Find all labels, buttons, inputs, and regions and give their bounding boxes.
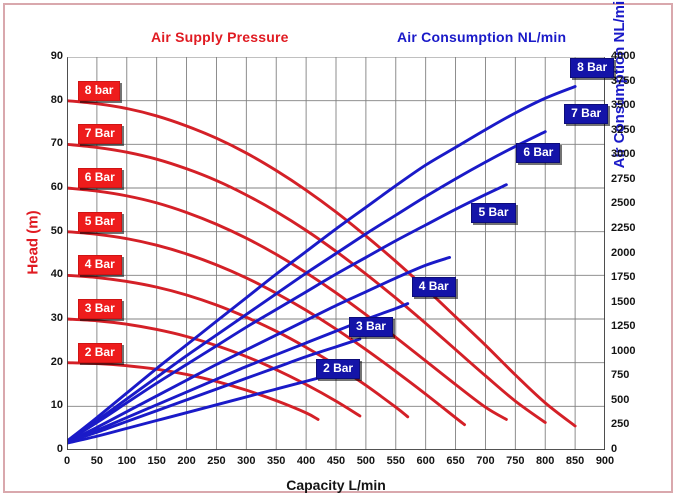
y-left-tick-label: 50 <box>29 225 63 237</box>
chart-frame: Air Supply Pressure Air Consumption NL/m… <box>3 3 673 493</box>
series-label-head-7-bar: 7 Bar <box>78 124 122 144</box>
y-right-tick-label: 2500 <box>611 197 651 209</box>
plot-area <box>67 57 605 450</box>
y-left-tick-label: 80 <box>29 94 63 106</box>
y-left-tick-label: 10 <box>29 399 63 411</box>
y-right-tick-label: 0 <box>611 443 651 455</box>
y-left-tick-label: 40 <box>29 268 63 280</box>
series-label-head-8-bar: 8 bar <box>78 81 121 101</box>
y-axis-right-ticks: 0250500750100012501500175020002250250027… <box>611 57 657 450</box>
y-left-tick-label: 0 <box>29 443 63 455</box>
y-left-tick-label: 30 <box>29 312 63 324</box>
y-left-tick-label: 60 <box>29 181 63 193</box>
curves <box>67 86 575 443</box>
y-right-tick-label: 1250 <box>611 320 651 332</box>
y-right-tick-label: 3000 <box>611 148 651 160</box>
y-right-tick-label: 3500 <box>611 99 651 111</box>
y-right-tick-label: 2250 <box>611 222 651 234</box>
y-right-tick-label: 750 <box>611 369 651 381</box>
y-right-tick-label: 3250 <box>611 124 651 136</box>
x-tick-label: 900 <box>585 455 625 467</box>
y-left-tick-label: 70 <box>29 137 63 149</box>
y-right-tick-label: 4000 <box>611 50 651 62</box>
y-right-tick-label: 2000 <box>611 247 651 259</box>
series-label-air-8-bar: 8 Bar <box>570 58 614 78</box>
series-label-air-5-bar: 5 Bar <box>471 203 515 223</box>
series-label-air-2-bar: 2 Bar <box>316 359 360 379</box>
series-label-air-6-bar: 6 Bar <box>516 143 560 163</box>
y-left-tick-label: 90 <box>29 50 63 62</box>
y-axis-left-ticks: 0102030405060708090 <box>25 57 63 450</box>
series-label-air-3-bar: 3 Bar <box>349 317 393 337</box>
x-axis-ticks: 0501001502002503003504004505005506006507… <box>67 455 605 471</box>
y-right-tick-label: 2750 <box>611 173 651 185</box>
y-left-tick-label: 20 <box>29 356 63 368</box>
series-label-air-4-bar: 4 Bar <box>412 277 456 297</box>
y-right-tick-label: 1500 <box>611 296 651 308</box>
series-label-head-3-bar: 3 Bar <box>78 299 122 319</box>
series-label-head-2-bar: 2 Bar <box>78 343 122 363</box>
series-label-head-4-bar: 4 Bar <box>78 255 122 275</box>
y-right-tick-label: 500 <box>611 394 651 406</box>
series-label-head-6-bar: 6 Bar <box>78 168 122 188</box>
chart-title-left: Air Supply Pressure <box>151 29 289 45</box>
series-label-air-7-bar: 7 Bar <box>564 104 608 124</box>
series-label-head-5-bar: 5 Bar <box>78 212 122 232</box>
y-right-tick-label: 250 <box>611 418 651 430</box>
y-right-tick-label: 1000 <box>611 345 651 357</box>
chart-title-right: Air Consumption NL/min <box>397 29 566 45</box>
y-right-tick-label: 3750 <box>611 75 651 87</box>
curve-air-6-bar <box>67 185 506 441</box>
y-right-tick-label: 1750 <box>611 271 651 283</box>
x-axis-label: Capacity L/min <box>67 477 605 493</box>
